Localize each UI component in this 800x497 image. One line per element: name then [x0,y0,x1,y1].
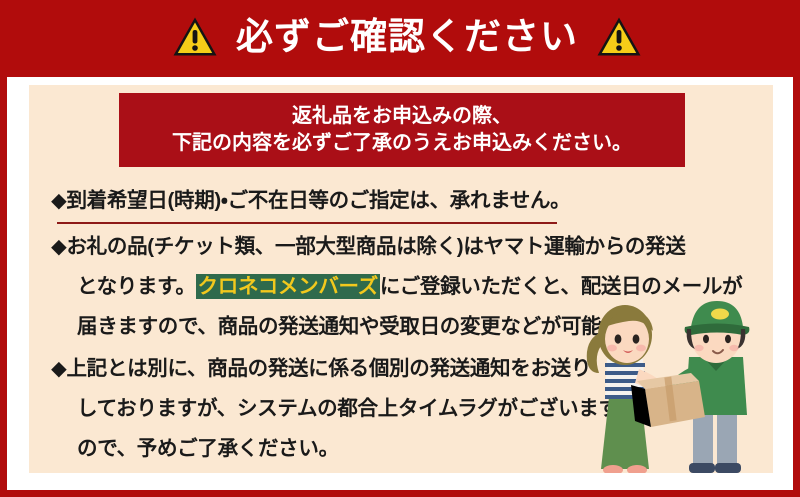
sub-banner: 返礼品をお申込みの際、 下記の内容を必ずご了承のうえお申込みください。 [119,93,685,167]
bullet-1-line-1: ◆到着希望日(時期)・ご不在日等のご指定は、承れません。 [51,181,757,221]
bullet-2-line-1: ◆お礼の品(チケット類、一部大型商品は除く)はヤマト運輸からの発送 [51,227,757,267]
sub-banner-line-2: 下記の内容を必ずご了承のうえお申込みください。 [172,132,632,155]
notice-card: 必ずご確認ください 返礼品をお申込みの際、 下記の内容を必ずご了承のうえお申込み… [0,0,800,497]
warning-triangle-icon [596,16,642,58]
cardboard-box-icon [631,373,705,427]
notice-bullet-1: ◆到着希望日(時期)・ご不在日等のご指定は、承れません。 [51,181,757,224]
content-panel: 返礼品をお申込みの際、 下記の内容を必ずご了承のうえお申込みください。 ◆到着希… [29,85,773,473]
bullet-divider [57,222,557,224]
delivery-handover-illustration [573,293,769,473]
sub-banner-line-1: 返礼品をお申込みの際、 [292,105,512,128]
warning-triangle-icon [172,16,218,58]
kuroneko-members-highlight: クロネコメンバーズ [196,274,380,299]
page-title: 必ずご確認ください [236,18,578,57]
header-band: 必ずご確認ください [0,0,800,77]
bullet-2-text-before-highlight: となります。 [77,275,196,298]
